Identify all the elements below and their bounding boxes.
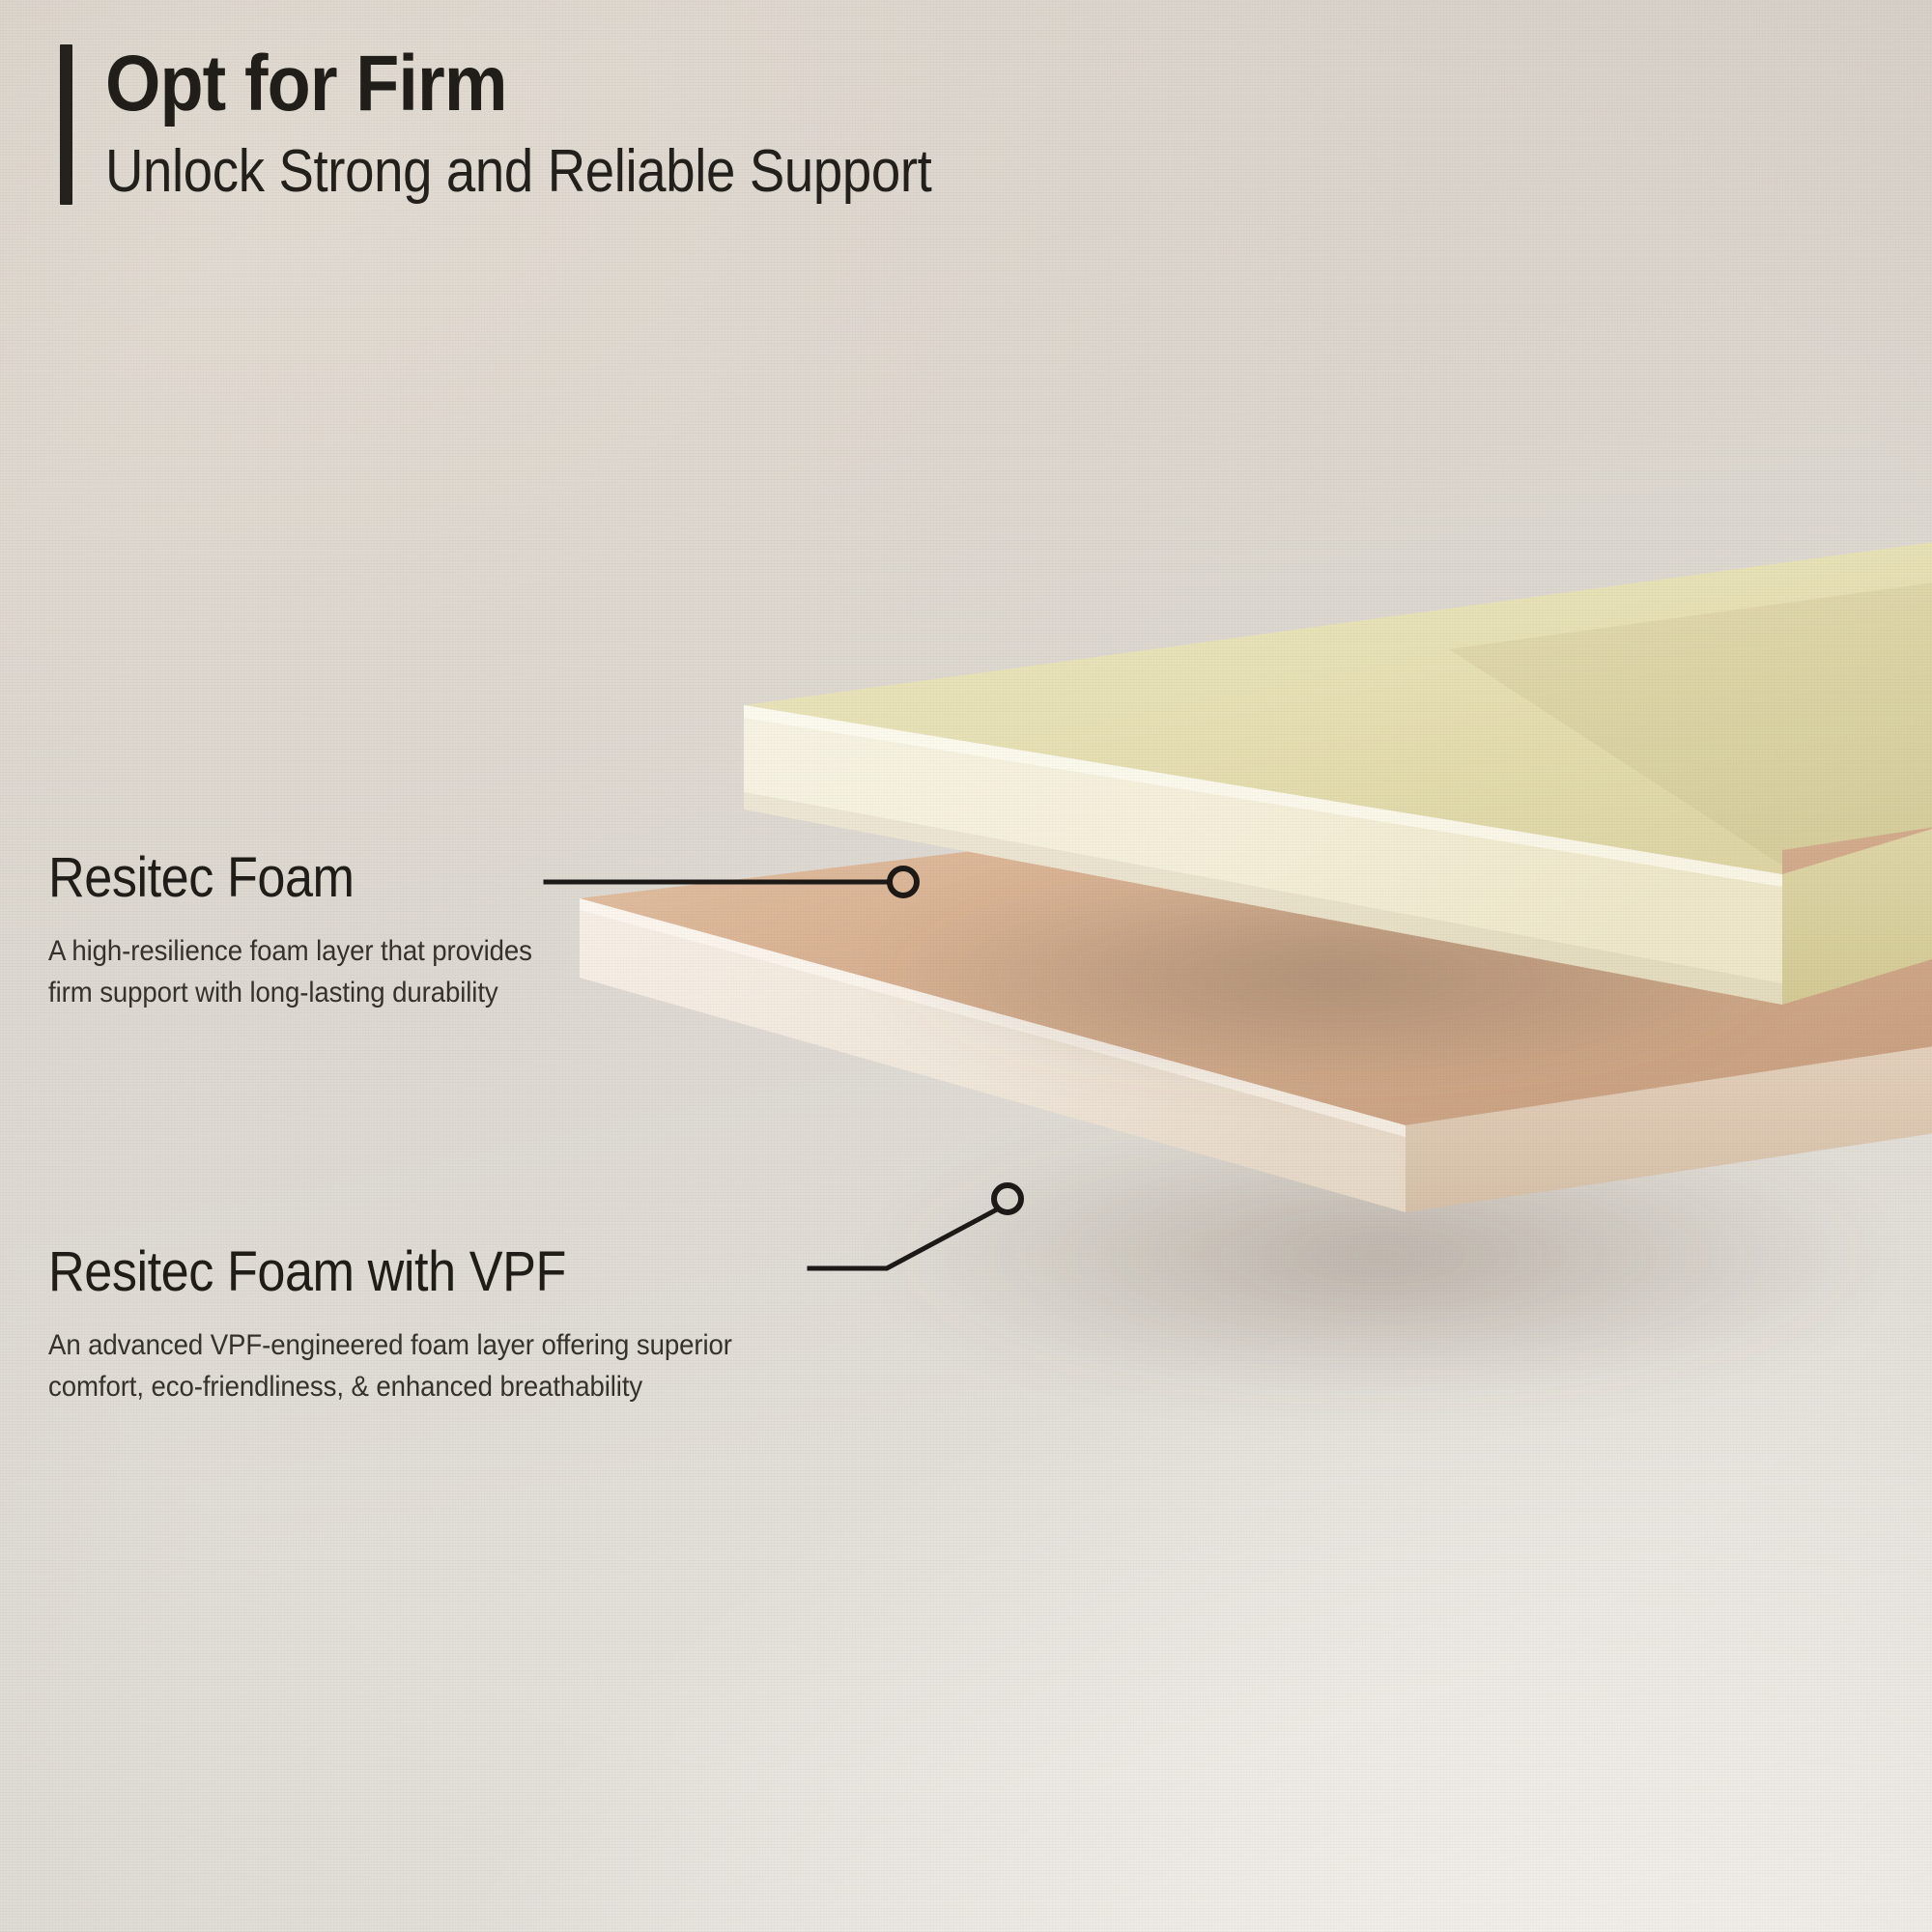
callout-resitec-foam-vpf: Resitec Foam with VPF An advanced VPF-en… (48, 1244, 791, 1407)
callout-desc-line: A high-resilience foam layer that provid… (48, 931, 532, 973)
callout-desc-line: comfort, eco-friendliness, & enhanced br… (48, 1367, 732, 1408)
callout-desc-line: firm support with long-lasting durabilit… (48, 973, 532, 1014)
callout-title-resitec-foam: Resitec Foam (48, 850, 522, 906)
callout-desc-line: An advanced VPF-engineered foam layer of… (48, 1325, 732, 1367)
page-subtitle: Unlock Strong and Reliable Support (105, 140, 931, 205)
header-block: Opt for Firm Unlock Strong and Reliable … (60, 44, 1044, 205)
callout-title-resitec-foam-vpf: Resitec Foam with VPF (48, 1244, 717, 1300)
header-text-group: Opt for Firm Unlock Strong and Reliable … (105, 44, 1044, 205)
title-accent-bar (60, 44, 72, 205)
callout-resitec-foam: Resitec Foam A high-resilience foam laye… (48, 850, 574, 1013)
callout-description-resitec-foam: A high-resilience foam layer that provid… (48, 931, 532, 1013)
callout-description-resitec-foam-vpf: An advanced VPF-engineered foam layer of… (48, 1325, 732, 1407)
page-title: Opt for Firm (105, 46, 951, 123)
infographic-canvas: Opt for Firm Unlock Strong and Reliable … (0, 0, 1932, 1932)
